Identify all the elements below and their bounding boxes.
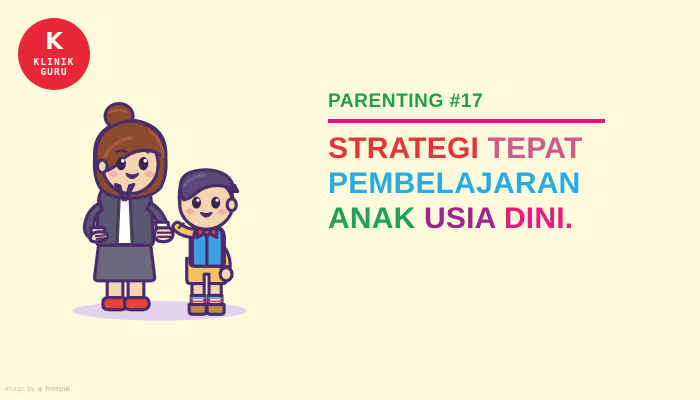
headline-word-anak: ANAK	[328, 202, 415, 235]
logo-monogram: K	[45, 31, 63, 54]
eyebrow-label: PARENTING #17	[328, 92, 668, 113]
copy-block: PARENTING #17 STRATEGI TEPAT PEMBELAJARA…	[328, 92, 668, 236]
headline-word-pembelajaran: PEMBELAJARAN	[328, 167, 580, 200]
attribution-source: freepik	[46, 386, 70, 393]
headline-line-1: STRATEGI TEPAT	[328, 131, 668, 166]
logo-line-1: KLINIK	[34, 58, 75, 68]
mother-and-child-illustration	[58, 98, 268, 323]
attribution: image by ❄ freepik	[5, 385, 70, 394]
headline-word-strategi: STRATEGI	[328, 132, 479, 165]
logo-line-2: GURU	[40, 68, 67, 78]
attribution-prefix: image by	[5, 386, 35, 393]
banner-canvas: K KLINIK GURU	[0, 0, 700, 400]
headline-line-2: PEMBELAJARAN	[328, 166, 668, 201]
klinik-guru-logo[interactable]: K KLINIK GURU	[18, 18, 90, 90]
flower-icon: ❄	[37, 385, 43, 394]
title-divider	[328, 119, 605, 123]
headline-word-dini: DINI.	[504, 202, 573, 235]
headline-word-usia: USIA	[424, 202, 495, 235]
headline-word-tepat: TEPAT	[488, 132, 583, 165]
headline-line-3: ANAK USIA DINI.	[328, 201, 668, 236]
